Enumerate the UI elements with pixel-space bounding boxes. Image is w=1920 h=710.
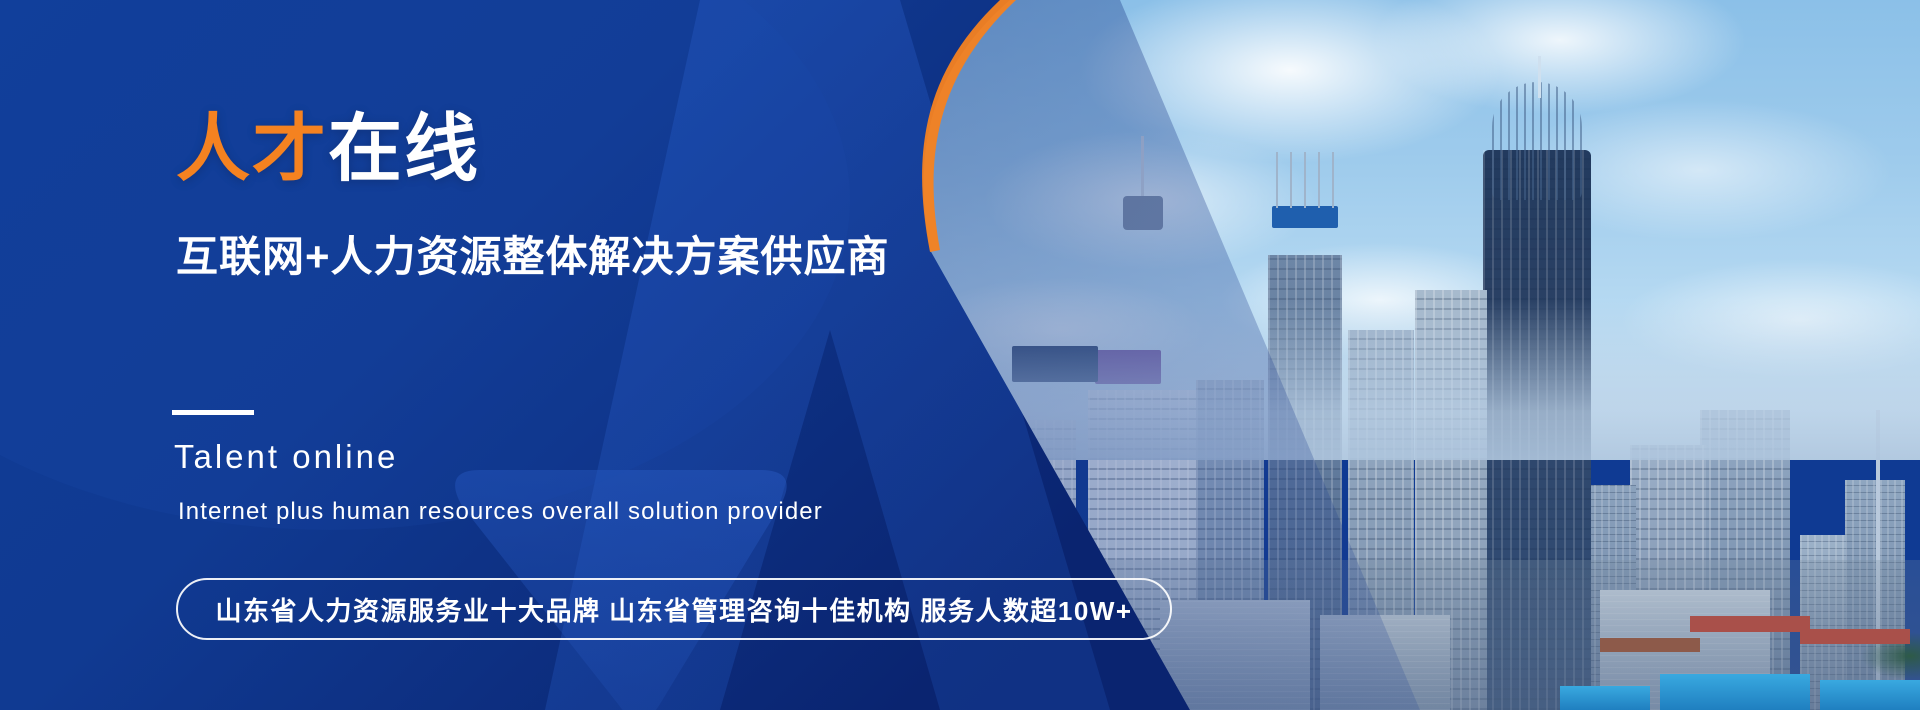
page-subtitle: 互联网+人力资源整体解决方案供应商	[176, 236, 890, 278]
page-title-highlight: 人才	[176, 107, 328, 190]
english-subtitle: Internet plus human resources overall so…	[178, 500, 823, 524]
page-title-rest: 在线	[328, 107, 480, 190]
hero-banner: 人才在线 互联网+人力资源整体解决方案供应商 Talent online Int…	[0, 0, 1920, 710]
divider-rule	[172, 410, 254, 415]
english-title: Talent online	[174, 440, 398, 473]
credentials-badge: 山东省人力资源服务业十大品牌 山东省管理咨询十佳机构 服务人数超10W+	[176, 578, 1172, 640]
banner-content: 人才在线 互联网+人力资源整体解决方案供应商 Talent online Int…	[0, 0, 1000, 710]
page-title: 人才在线	[176, 112, 480, 186]
credentials-badge-text: 山东省人力资源服务业十大品牌 山东省管理咨询十佳机构 服务人数超10W+	[215, 591, 1132, 628]
